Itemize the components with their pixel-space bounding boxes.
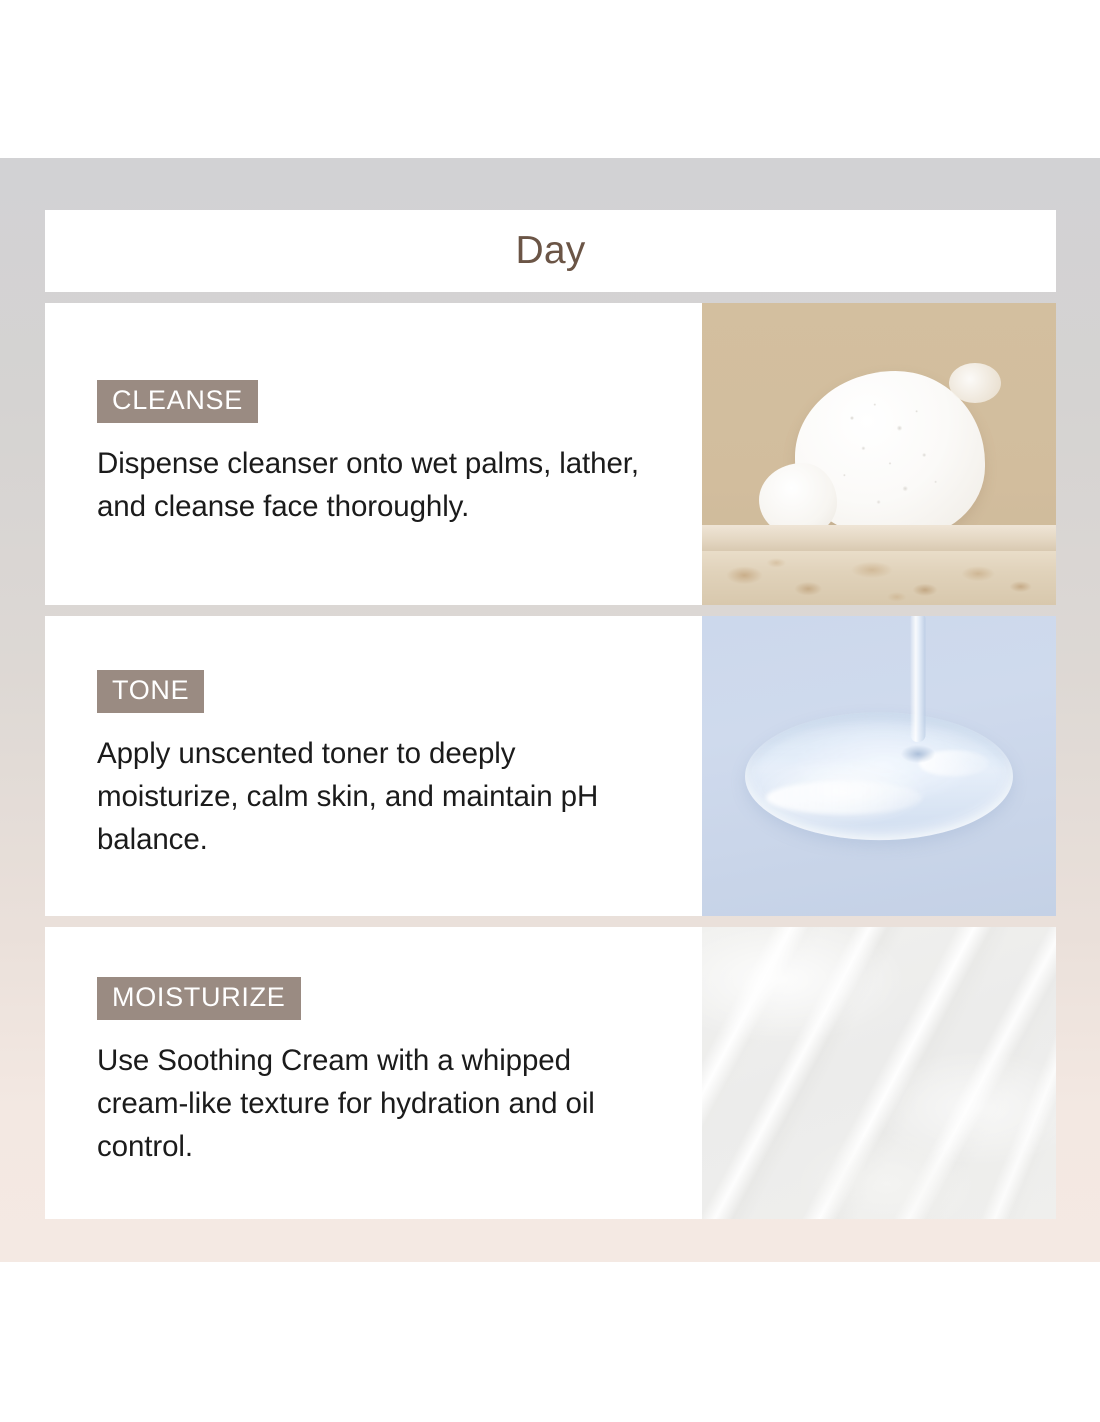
step-text-moisturize: MOISTURIZE Use Soothing Cream with a whi… (45, 927, 702, 1219)
routine-card-stack: Day CLEANSE Dispense cleanser onto wet p… (45, 210, 1056, 1219)
step-text-tone: TONE Apply unscented toner to deeply moi… (45, 616, 702, 916)
toner-impact-ripple (901, 745, 935, 763)
step-row-tone: TONE Apply unscented toner to deeply moi… (45, 616, 1056, 916)
stone-ledge-top (702, 525, 1056, 551)
page-title: Day (516, 229, 586, 273)
routine-header-card: Day (45, 210, 1056, 292)
step-badge-cleanse: CLEANSE (97, 380, 258, 423)
card-divider (45, 916, 1056, 927)
foam-bubbles-texture (795, 371, 985, 539)
cream-sheen-highlights (702, 927, 1056, 1219)
toner-droplet-photo (702, 616, 1056, 916)
foam-on-stone-photo (702, 303, 1056, 605)
card-divider (45, 292, 1056, 303)
toner-pool-shape (745, 712, 1013, 840)
step-description-moisturize: Use Soothing Cream with a whipped cream-… (97, 1040, 662, 1168)
toner-pour-stream (910, 616, 925, 742)
step-badge-moisturize: MOISTURIZE (97, 977, 301, 1020)
stone-ledge-face (702, 551, 1056, 605)
step-text-cleanse: CLEANSE Dispense cleanser onto wet palms… (45, 303, 702, 605)
step-badge-tone: TONE (97, 670, 204, 713)
step-row-moisturize: MOISTURIZE Use Soothing Cream with a whi… (45, 927, 1056, 1219)
step-row-cleanse: CLEANSE Dispense cleanser onto wet palms… (45, 303, 1056, 605)
card-divider (45, 605, 1056, 616)
skincare-routine-infographic: Day CLEANSE Dispense cleanser onto wet p… (0, 0, 1100, 1422)
cream-texture-photo (702, 927, 1056, 1219)
step-description-tone: Apply unscented toner to deeply moisturi… (97, 733, 662, 861)
step-description-cleanse: Dispense cleanser onto wet palms, lather… (97, 443, 662, 529)
